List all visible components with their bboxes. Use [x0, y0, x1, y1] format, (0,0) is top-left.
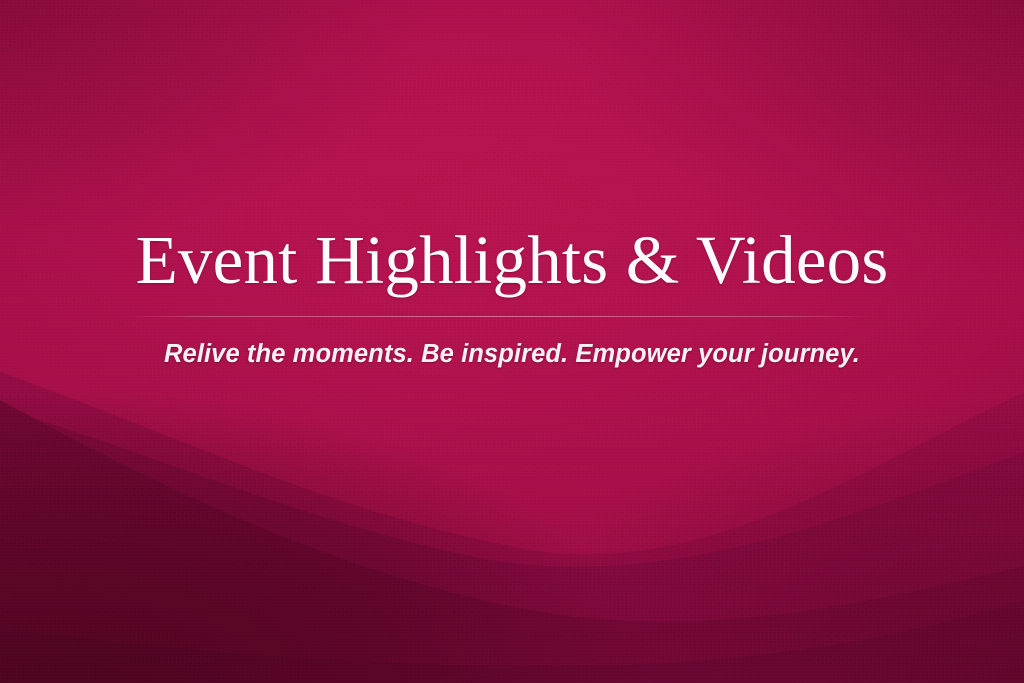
title-slide: Event Highlights & Videos Relive the mom… [0, 0, 1024, 683]
slide-content: Event Highlights & Videos Relive the mom… [0, 0, 1024, 683]
page-title: Event Highlights & Videos [0, 226, 1024, 295]
slide-subtitle: Relive the moments. Be inspired. Empower… [0, 339, 1024, 370]
title-divider-rule [124, 316, 872, 317]
